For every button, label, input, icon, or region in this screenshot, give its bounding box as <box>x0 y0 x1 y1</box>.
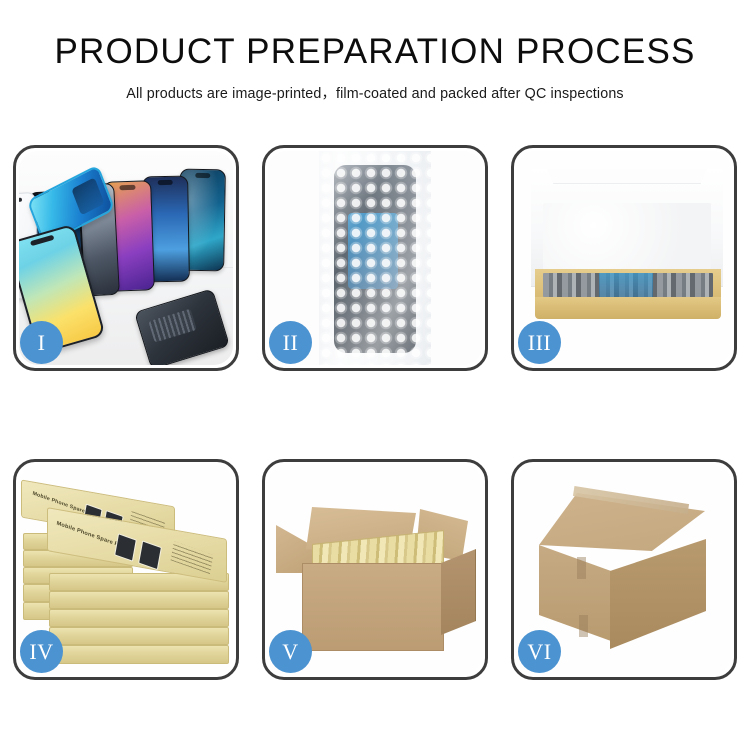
step-badge-1: I <box>20 321 63 364</box>
step-badge-4: IV <box>20 630 63 673</box>
page-title: PRODUCT PREPARATION PROCESS <box>0 34 750 71</box>
bubble-wrap-sleeve-icon <box>319 151 431 365</box>
page-header: PRODUCT PREPARATION PROCESS All products… <box>0 0 750 103</box>
carton-seam-icon <box>577 557 586 579</box>
kraft-box-stacked <box>49 645 229 664</box>
step-badge-2: II <box>269 321 312 364</box>
foam-insert-icon <box>543 203 711 277</box>
step-6-photo: VI <box>517 465 731 674</box>
kraft-box-stacked <box>49 609 229 627</box>
step-5-photo: V <box>268 465 482 674</box>
step-3-photo: III <box>517 151 731 365</box>
page-subtitle: All products are image-printed，film-coat… <box>0 82 750 103</box>
wrapped-parts-row-icon <box>543 273 713 297</box>
process-step-panel-2: II <box>262 145 488 371</box>
step-badge-5: V <box>269 630 312 673</box>
process-step-panel-4: Mobile Phone Spare Parts Mobile Phone Sp… <box>13 459 239 680</box>
process-step-panel-3: III <box>511 145 737 371</box>
process-step-panel-1: I <box>13 145 239 371</box>
kraft-box-front-icon <box>535 297 721 319</box>
process-step-grid: I II III <box>13 145 737 680</box>
box-thumbnail-icon <box>114 533 137 562</box>
carton-side-face-icon <box>441 549 476 635</box>
carton-seam-icon <box>579 615 588 637</box>
kraft-box-stacked <box>49 627 229 645</box>
process-step-panel-6: VI <box>511 459 737 680</box>
notch-icon <box>158 180 173 185</box>
kraft-box-stacked <box>49 591 229 609</box>
step-badge-6: VI <box>518 630 561 673</box>
step-badge-3: III <box>518 321 561 364</box>
step-2-photo: II <box>268 151 482 365</box>
step-4-photo: Mobile Phone Spare Parts Mobile Phone Sp… <box>19 465 233 674</box>
process-step-panel-5: V <box>262 459 488 680</box>
step-1-photo: I <box>19 151 233 365</box>
box-spec-lines-icon <box>171 541 214 574</box>
notch-icon <box>119 185 135 191</box>
plastic-sheen-icon <box>319 151 431 365</box>
carton-front-face-icon <box>302 563 444 651</box>
notch-icon <box>195 173 210 178</box>
box-thumbnail-icon <box>138 540 162 570</box>
